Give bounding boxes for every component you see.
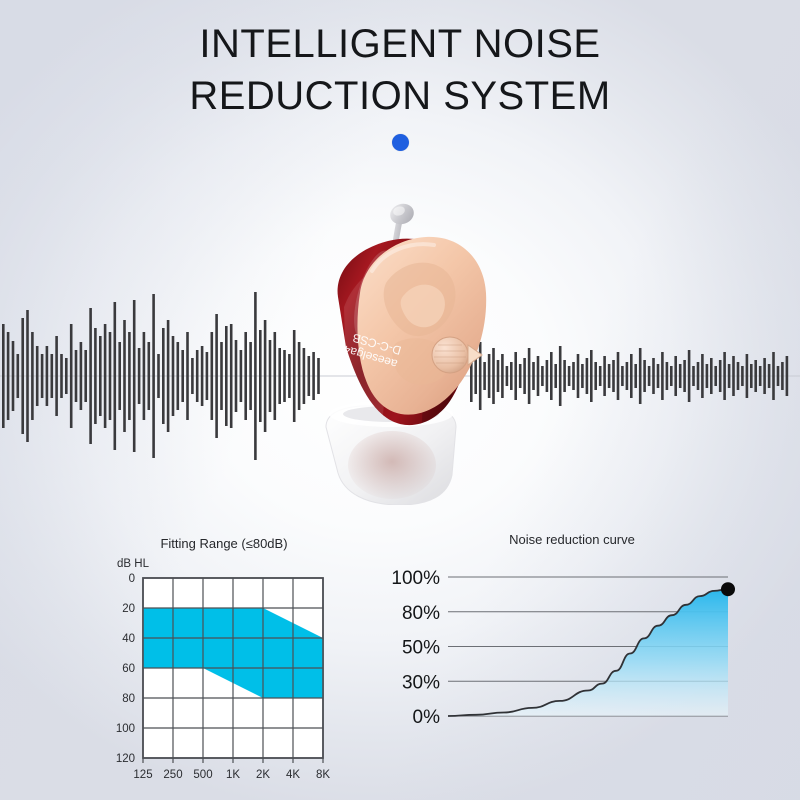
y-tick-label: 20 [122,603,135,615]
poster-canvas: INTELLIGENT NOISE REDUCTION SYSTEM [0,0,800,800]
waveform-bar [514,352,517,400]
waveform-bar [697,362,700,390]
waveform-bar [554,364,557,388]
waveform-bar [626,362,629,390]
waveform-bar [657,364,660,388]
waveform-bar [80,342,83,410]
waveform-bar [244,332,247,420]
y-tick-label: 50% [402,638,440,659]
y-tick-label: 60 [122,663,135,675]
waveform-bar [741,366,744,386]
waveform-bar [723,352,726,400]
title-line-2: REDUCTION SYSTEM [0,70,800,122]
waveform-bar [196,350,199,402]
waveform-bar [670,366,673,386]
waveform-bar [75,350,78,402]
waveform-bar [288,354,291,398]
title-line-1: INTELLIGENT NOISE [0,18,800,70]
waveform-bar [283,350,286,402]
waveform-bar [519,364,522,388]
waveform-bar [152,294,155,458]
waveform-bar [41,354,44,398]
x-tick-label: 4K [286,769,300,781]
waveform-bar [706,364,709,388]
waveform-bar [225,326,228,426]
waveform-bar [109,332,112,420]
waveform-bar [235,340,238,412]
waveform-bar [206,352,209,400]
waveform-bar [728,364,731,388]
fitting-range-title: Fitting Range (≤80dB) [160,536,287,551]
waveform-bar [162,328,165,424]
waveform-bar [17,354,20,398]
waveform-bar [65,358,68,394]
waveform-bar [612,360,615,392]
waveform-bar [104,324,107,428]
noise-reduction-chart: Noise reduction curve 100%80%50%30%0% [372,530,744,740]
waveform-bar [714,366,717,386]
waveform-bar [710,358,713,394]
waveform-bar [537,356,540,396]
waveform-bar [679,364,682,388]
waveform-bar [608,364,611,388]
waveform-bar [737,362,740,390]
y-tick-label: 80% [402,603,440,624]
waveform-bar [563,360,566,392]
waveform-bar [523,358,526,394]
waveform-bar [172,336,175,416]
x-tick-label: 500 [193,769,212,781]
x-tick-label: 250 [163,769,182,781]
noise-reduction-y-ticks: 100%80%50%30%0% [391,568,440,728]
fitting-range-plot [143,578,323,758]
dome-texture [348,431,436,499]
waveform-bar [786,356,789,396]
waveform-bar [590,350,593,402]
waveform-bar [264,320,267,432]
waveform-bar [211,332,214,420]
x-tick-label: 125 [133,769,152,781]
waveform-bar [293,330,296,422]
waveform-bar [639,348,642,404]
y-tick-label: 120 [116,753,135,765]
y-tick-label: 0% [413,707,441,728]
waveform-bar [528,348,531,404]
waveform-bar [586,358,589,394]
y-tick-label: 0 [129,573,135,585]
waveform-bar [630,354,633,398]
waveform-bar [177,342,180,410]
waveform-bar [191,358,194,394]
waveform-bar [254,292,257,460]
waveform-bar [89,308,92,444]
fitting-range-chart: Fitting Range (≤80dB) dB HL 020406080100… [88,532,350,784]
noise-reduction-endpoint-marker [721,582,735,596]
waveform-bar [201,346,204,406]
noise-reduction-title: Noise reduction curve [509,532,635,547]
waveform-bar [274,332,277,420]
fitting-range-x-ticks: 1252505001K2K4K8K [133,758,330,781]
waveform-bar [510,362,513,390]
waveform-bar [661,352,664,400]
waveform-bar [114,302,117,450]
accent-dot-icon [392,134,409,151]
waveform-bar [732,356,735,396]
waveform-bar [94,328,97,424]
waveform-bar [36,346,39,406]
waveform-bar [138,348,141,404]
waveform-bar [772,352,775,400]
waveform-bar [599,366,602,386]
waveform-bar [99,336,102,416]
y-tick-label: 80 [122,693,135,705]
x-tick-label: 8K [316,769,330,781]
waveform-bar [546,360,549,392]
waveform-bar [768,364,771,388]
waveform-bar [128,332,131,420]
waveform-bar [746,354,749,398]
waveform-bar [541,366,544,386]
waveform-bar [754,360,757,392]
waveform-bar [666,362,669,390]
waveform-bar [643,360,646,392]
waveform-bar [143,332,146,420]
waveform-bar [594,362,597,390]
waveform-bar [763,358,766,394]
waveform-bar [220,342,223,410]
waveform-bar [181,350,184,402]
waveform-bar [230,324,233,428]
waveform-bar [167,320,170,432]
waveform-bar [781,362,784,390]
waveform-bar [249,342,252,410]
waveform-bar [186,332,189,420]
waveform-bar [719,360,722,392]
waveform-bar [259,330,262,422]
y-tick-label: 100 [116,723,135,735]
waveform-bar [559,346,562,406]
y-tick-label: 40 [122,633,135,645]
waveform-bar [701,354,704,398]
waveform-bar [60,354,63,398]
waveform-bar [759,366,762,386]
waveform-bar [12,341,15,411]
waveform-bar [240,350,243,402]
waveform-bar [683,360,686,392]
waveform-bar [688,350,691,402]
y-tick-label: 30% [402,672,440,693]
waveform-bar [621,366,624,386]
waveform-bar [572,362,575,390]
waveform-bar [634,364,637,388]
waveform-bar [7,332,10,420]
waveform-bar [577,354,580,398]
fitting-range-ylabel: dB HL [117,558,150,570]
waveform-bar [550,352,553,400]
waveform-bar [674,356,677,396]
waveform-bar [123,320,126,432]
waveform-bar [21,318,24,434]
page-title: INTELLIGENT NOISE REDUCTION SYSTEM [0,18,800,122]
hearing-aid-device: aeeselga4 D-C-CSB [300,175,510,505]
x-tick-label: 1K [226,769,240,781]
waveform-bar [70,324,73,428]
waveform-bar [46,346,49,406]
waveform-bar [215,314,218,438]
waveform-bar [148,342,151,410]
waveform-bar [648,366,651,386]
waveform-bar [31,332,34,420]
waveform-bar [532,362,535,390]
waveform-bar [2,324,5,428]
waveform-bar [617,352,620,400]
waveform-bar [777,366,780,386]
waveform-bar [750,364,753,388]
waveform-bar [157,354,160,398]
x-tick-label: 2K [256,769,270,781]
waveform-bar [269,340,272,412]
waveform-bar [118,342,121,410]
waveform-bar [603,356,606,396]
waveform-bar [51,354,54,398]
waveform-bar [26,310,29,442]
fitting-range-y-ticks: 020406080100120 [116,573,135,765]
waveform-bar [581,364,584,388]
waveform-bar [652,358,655,394]
y-tick-label: 100% [391,568,440,589]
waveform-bar [692,366,695,386]
waveform-bar [278,348,281,404]
waveform-bar [133,300,136,452]
noise-reduction-area [448,589,728,716]
waveform-bar [55,336,58,416]
volume-knob[interactable] [432,337,468,373]
waveform-bar [568,366,571,386]
waveform-bar [84,350,87,402]
